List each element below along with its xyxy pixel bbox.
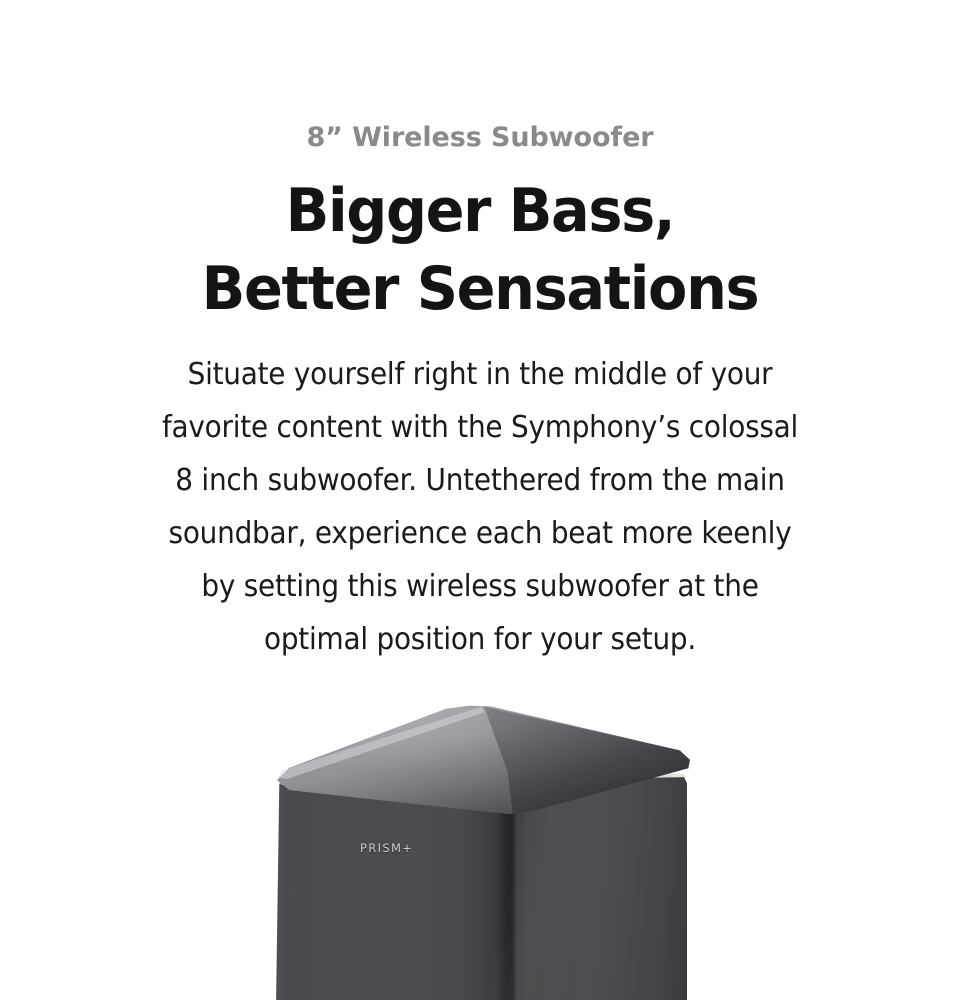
subwoofer-product-image: PRISM+ bbox=[268, 705, 696, 1000]
subwoofer-body bbox=[276, 775, 687, 1000]
subwoofer-corner-highlight bbox=[506, 775, 527, 1000]
section-eyebrow: 8” Wireless Subwoofer bbox=[0, 0, 960, 158]
description-line-1: Situate yourself right in the middle of … bbox=[34, 348, 927, 401]
description-line-3: 8 inch subwoofer. Untethered from the ma… bbox=[34, 454, 927, 507]
copy-block: 8” Wireless Subwoofer Bigger Bass, Bette… bbox=[0, 0, 960, 666]
subwoofer-left-edge-highlight bbox=[276, 775, 297, 1000]
page-title: Bigger Bass, Better Sensations bbox=[22, 158, 939, 328]
headline-line-1: Bigger Bass, bbox=[22, 172, 939, 250]
description-line-4: soundbar, experience each beat more keen… bbox=[34, 507, 927, 560]
marketing-section: 8” Wireless Subwoofer Bigger Bass, Bette… bbox=[0, 0, 960, 1000]
section-description: Situate yourself right in the middle of … bbox=[34, 328, 927, 666]
product-image-stage: PRISM+ bbox=[0, 660, 960, 1000]
description-line-6: optimal position for your setup. bbox=[34, 613, 927, 666]
description-line-2: favorite content with the Symphony’s col… bbox=[34, 401, 927, 454]
headline-line-2: Better Sensations bbox=[22, 250, 939, 328]
subwoofer-top-rim-highlight bbox=[274, 705, 484, 779]
description-line-5: by setting this wireless subwoofer at th… bbox=[34, 560, 927, 613]
